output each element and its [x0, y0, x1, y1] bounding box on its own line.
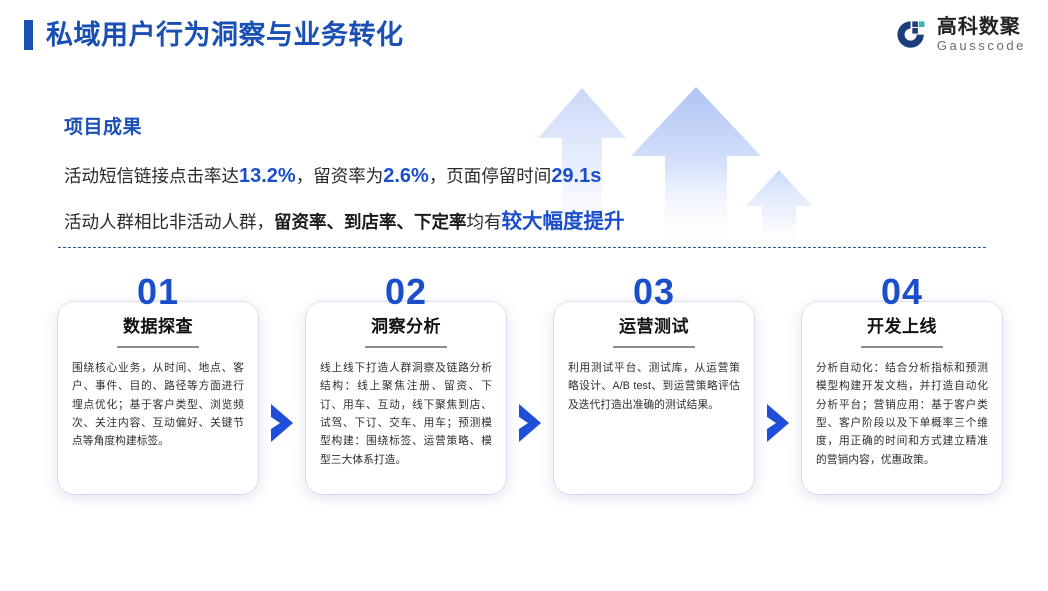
chevron-right-icon-2: [506, 402, 554, 444]
results-line1-seg3: ，页面停留时间: [429, 166, 552, 186]
step-number-4: 04: [802, 274, 1002, 310]
results-line1-seg1: 活动短信链接点击率达: [64, 166, 239, 186]
step-number-3: 03: [554, 274, 754, 310]
results-line2-bold: 留资率、到店率、下定率: [274, 212, 467, 232]
step-card-body-4[interactable]: 开发上线 分析自动化：结合分析指标和预测模型构建开发文档，并打造自动化分析平台；…: [802, 302, 1002, 494]
step-body-4: 分析自动化：结合分析指标和预测模型构建开发文档，并打造自动化分析平台；营销应用：…: [816, 359, 988, 469]
step-card-body-2[interactable]: 洞察分析 线上线下打造人群洞察及链路分析结构：线上聚焦注册、留资、下订、用车、互…: [306, 302, 506, 494]
step-title-4: 开发上线: [816, 318, 988, 337]
results-line2-seg2: 均有: [467, 212, 502, 232]
process-steps: 01 数据探查 围绕核心业务，从时间、地点、客户、事件、目的、路径等方面进行埋点…: [58, 274, 1003, 534]
results-line-1: 活动短信链接点击率达13.2%，留资率为2.6%，页面停留时间29.1s: [64, 164, 625, 188]
logo-name-cn: 高科数聚: [937, 17, 1026, 38]
page-title: 私域用户行为洞察与业务转化: [46, 22, 404, 49]
step-number-2: 02: [306, 274, 506, 310]
step-title-2: 洞察分析: [320, 318, 492, 337]
step-card-2[interactable]: 02 洞察分析 线上线下打造人群洞察及链路分析结构：线上聚焦注册、留资、下订、用…: [306, 274, 506, 494]
step-body-3: 利用测试平台、测试库，从运营策略设计、A/B test、到运营策略评估及迭代打造…: [568, 359, 740, 414]
step-number-1: 01: [58, 274, 258, 310]
chevron-right-icon-1: [258, 402, 306, 444]
metric-click-rate: 13.2%: [239, 165, 296, 187]
step-body-1: 围绕核心业务，从时间、地点、客户、事件、目的、路径等方面进行埋点优化；基于客户类…: [72, 359, 244, 451]
decorative-arrow-right-icon: [744, 168, 814, 248]
step-title-1: 数据探查: [72, 318, 244, 337]
results-line2-seg1: 活动人群相比非活动人群，: [64, 212, 274, 232]
chevron-right-icon-3: [754, 402, 802, 444]
step-card-4[interactable]: 04 开发上线 分析自动化：结合分析指标和预测模型构建开发文档，并打造自动化分析…: [802, 274, 1002, 494]
step-title-rule-2: [365, 346, 447, 348]
step-card-body-3[interactable]: 运营测试 利用测试平台、测试库，从运营策略设计、A/B test、到运营策略评估…: [554, 302, 754, 494]
step-card-3[interactable]: 03 运营测试 利用测试平台、测试库，从运营策略设计、A/B test、到运营策…: [554, 274, 754, 494]
step-card-body-1[interactable]: 数据探查 围绕核心业务，从时间、地点、客户、事件、目的、路径等方面进行埋点优化；…: [58, 302, 258, 494]
results-heading: 项目成果: [64, 112, 625, 139]
step-card-1[interactable]: 01 数据探查 围绕核心业务，从时间、地点、客户、事件、目的、路径等方面进行埋点…: [58, 274, 258, 494]
step-title-rule-3: [613, 346, 695, 348]
title-accent-bar: [24, 20, 33, 50]
metric-dwell-time: 29.1s: [551, 165, 601, 187]
results-line1-seg2: ，留资率为: [296, 166, 384, 186]
gausscode-logo-icon: [894, 18, 928, 52]
page-header: 私域用户行为洞察与业务转化: [24, 20, 404, 50]
results-line-2: 活动人群相比非活动人群，留资率、到店率、下定率均有较大幅度提升: [64, 210, 625, 235]
decorative-arrow-center-icon: [628, 84, 764, 247]
logo-wordmark: 高科数聚 Gausscode: [937, 17, 1026, 53]
slide-root: 私域用户行为洞察与业务转化 高科数聚 Gausscode 项目成果 活动短信链接…: [0, 0, 1048, 591]
section-divider: [58, 247, 986, 248]
metric-lead-rate: 2.6%: [383, 165, 429, 187]
results-section: 项目成果 活动短信链接点击率达13.2%，留资率为2.6%，页面停留时间29.1…: [64, 112, 625, 235]
step-title-rule-4: [861, 346, 943, 348]
step-title-rule-1: [117, 346, 199, 348]
results-line2-highlight: 较大幅度提升: [502, 210, 625, 233]
step-title-3: 运营测试: [568, 318, 740, 337]
brand-logo: 高科数聚 Gausscode: [894, 17, 1026, 53]
logo-name-en: Gausscode: [937, 39, 1026, 53]
step-body-2: 线上线下打造人群洞察及链路分析结构：线上聚焦注册、留资、下订、用车、互动，线下聚…: [320, 359, 492, 469]
